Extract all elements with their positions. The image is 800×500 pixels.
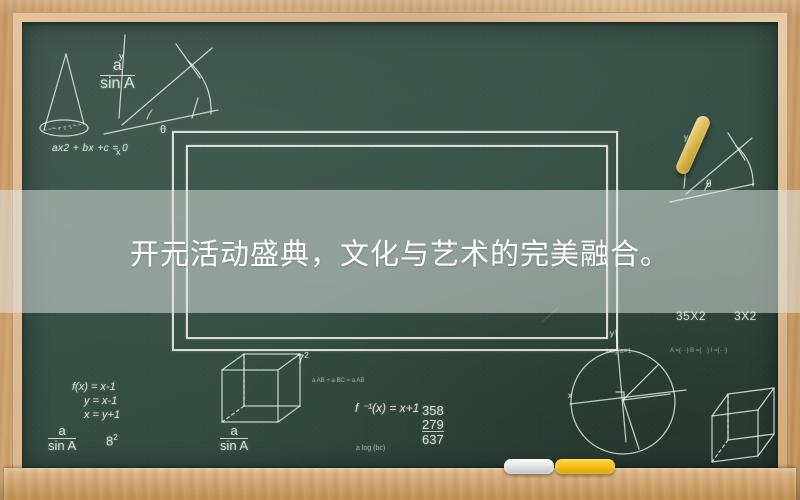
tiny-formula-row: A =(· ·) B =(· ·) I =(· ·): [670, 348, 727, 354]
inverse-function: f ⁻¹(x) = x+1: [355, 402, 419, 415]
axis-label-x-2: x: [568, 392, 572, 400]
wood-ledge: [4, 468, 796, 500]
cube-diagram-right: [712, 388, 774, 462]
fraction-a-sin-a-3: a sin A: [220, 424, 248, 452]
log-product: a log (bc): [356, 445, 385, 452]
chalk-stick-white-ledge: [504, 459, 554, 474]
cube-diagram-center: [222, 354, 300, 422]
addition-row: 358: [422, 404, 444, 418]
axis-label-y: y: [119, 52, 124, 61]
addition-row: 279: [422, 418, 444, 432]
caption-text: 开元活动盛典，文化与艺术的完美融合。: [0, 190, 800, 313]
fraction-a-sin-a: a sin A: [100, 58, 135, 93]
function-line-1: f(x) = x-1: [72, 382, 116, 394]
power-8-squared: 82: [106, 434, 118, 448]
addition-row-sum: 637: [422, 431, 444, 447]
axis-label-x: x: [116, 148, 121, 157]
addition-column: 358 279 637: [422, 404, 444, 447]
angle-label-theta: θ: [160, 125, 166, 137]
function-line-2: y = x-1: [84, 396, 117, 408]
function-line-3: x = y+1: [84, 410, 120, 422]
small-formula-ab-bc-ab: a AB + a BC = a AB: [312, 378, 364, 384]
power-7-squared: 72: [297, 352, 309, 366]
fraction-a-sin-a-2: a sin A: [48, 424, 76, 452]
chalk-stick-yellow-board: [674, 114, 712, 176]
angle-label-theta-2: θ: [706, 180, 712, 191]
chalk-stick-yellow-ledge: [555, 459, 615, 474]
cone-diagram: [40, 54, 88, 136]
chalkboard-banner: a sin A ax2 + bx +c = 0 y x θ f(x) = x-1…: [0, 0, 800, 500]
